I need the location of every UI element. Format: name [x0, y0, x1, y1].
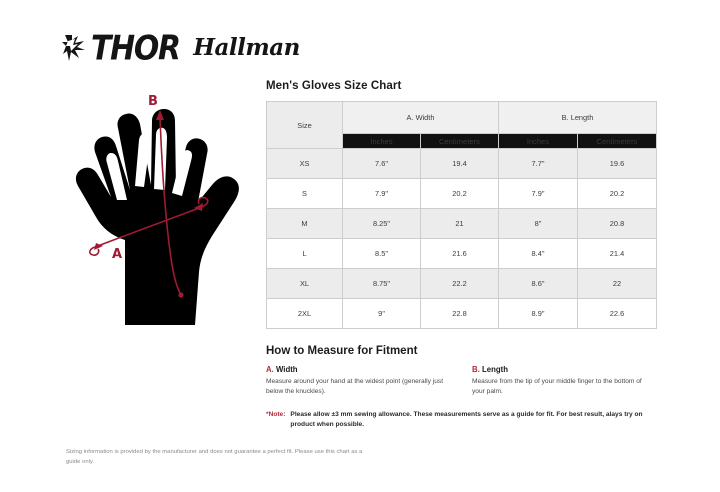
note-row: *Note: Please allow ±3 mm sewing allowan… — [266, 410, 656, 430]
diagram-label-a: A — [112, 247, 122, 262]
cell-size: 2XL — [267, 299, 343, 329]
measure-width-text: Measure around your hand at the widest p… — [266, 377, 450, 397]
table-row: M 8.25" 21 8" 20.8 — [267, 209, 657, 239]
hand-silhouette-icon: A B — [62, 90, 262, 325]
cell-width-cm: 21.6 — [421, 239, 499, 269]
page-title: Men's Gloves Size Chart — [266, 80, 656, 92]
header-group-length: B. Length — [499, 102, 657, 134]
how-to-measure-title: How to Measure for Fitment — [266, 345, 656, 357]
header-group-width: A. Width — [343, 102, 499, 134]
measure-width-heading: A. Width — [266, 365, 450, 374]
note-label: *Note: — [266, 410, 285, 430]
table-row: 2XL 9" 22.8 8.9" 22.6 — [267, 299, 657, 329]
hallman-wordmark: Hallman — [193, 36, 300, 59]
cell-length-in: 8.9" — [499, 299, 578, 329]
table-row: S 7.9" 20.2 7.9" 20.2 — [267, 179, 657, 209]
cell-length-in: 8.6" — [499, 269, 578, 299]
cell-width-in: 8.5" — [343, 239, 421, 269]
cell-length-cm: 22 — [578, 269, 657, 299]
cell-width-cm: 22.2 — [421, 269, 499, 299]
cell-length-cm: 21.4 — [578, 239, 657, 269]
hand-measurement-diagram: A B — [62, 90, 262, 325]
cell-width-in: 7.6" — [343, 149, 421, 179]
measure-length-block: B. Length Measure from the tip of your m… — [472, 365, 656, 397]
cell-size: L — [267, 239, 343, 269]
cell-length-in: 8.4" — [499, 239, 578, 269]
table-row: L 8.5" 21.6 8.4" 21.4 — [267, 239, 657, 269]
header-width-centimeters: Centimeters — [421, 134, 499, 149]
cell-length-cm: 19.6 — [578, 149, 657, 179]
measure-width-name: Width — [276, 365, 298, 374]
cell-size: S — [267, 179, 343, 209]
measure-length-heading: B. Length — [472, 365, 656, 374]
cell-width-cm: 22.8 — [421, 299, 499, 329]
header-width-inches: Inches — [343, 134, 421, 149]
thor-wordmark: THOR — [91, 31, 180, 65]
footer-disclaimer: Sizing information is provided by the ma… — [66, 448, 366, 467]
chart-content: Men's Gloves Size Chart Size A. Width B.… — [266, 80, 656, 430]
cell-length-in: 7.7" — [499, 149, 578, 179]
cell-size: XS — [267, 149, 343, 179]
cell-size: XL — [267, 269, 343, 299]
cell-width-in: 8.75" — [343, 269, 421, 299]
cell-width-in: 8.25" — [343, 209, 421, 239]
how-to-measure-section: How to Measure for Fitment A. Width Meas… — [266, 345, 656, 430]
cell-width-in: 9" — [343, 299, 421, 329]
measure-length-marker: B. — [472, 365, 480, 374]
cell-length-cm: 20.2 — [578, 179, 657, 209]
note-text: Please allow ±3 mm sewing allowance. The… — [290, 410, 645, 430]
cell-size: M — [267, 209, 343, 239]
header-length-centimeters: Centimeters — [578, 134, 657, 149]
cell-width-cm: 21 — [421, 209, 499, 239]
header-length-inches: Inches — [499, 134, 578, 149]
cell-length-cm: 20.8 — [578, 209, 657, 239]
cell-width-in: 7.9" — [343, 179, 421, 209]
header-size: Size — [267, 102, 343, 149]
brand-logo-bar: THOR Hallman — [62, 33, 300, 63]
cell-width-cm: 19.4 — [421, 149, 499, 179]
diagram-label-b: B — [148, 94, 158, 109]
measure-width-marker: A. — [266, 365, 274, 374]
cell-length-in: 7.9" — [499, 179, 578, 209]
thor-hammer-emblem-icon — [62, 33, 88, 63]
measure-length-name: Length — [482, 365, 508, 374]
table-header-group-row: Size A. Width B. Length — [267, 102, 657, 134]
cell-length-cm: 22.6 — [578, 299, 657, 329]
thor-logo: THOR — [62, 33, 177, 63]
table-row: XS 7.6" 19.4 7.7" 19.6 — [267, 149, 657, 179]
size-chart-table: Size A. Width B. Length Inches Centimete… — [266, 101, 657, 329]
measure-length-text: Measure from the tip of your middle fing… — [472, 377, 656, 397]
cell-width-cm: 20.2 — [421, 179, 499, 209]
cell-length-in: 8" — [499, 209, 578, 239]
measure-width-block: A. Width Measure around your hand at the… — [266, 365, 450, 397]
table-row: XL 8.75" 22.2 8.6" 22 — [267, 269, 657, 299]
